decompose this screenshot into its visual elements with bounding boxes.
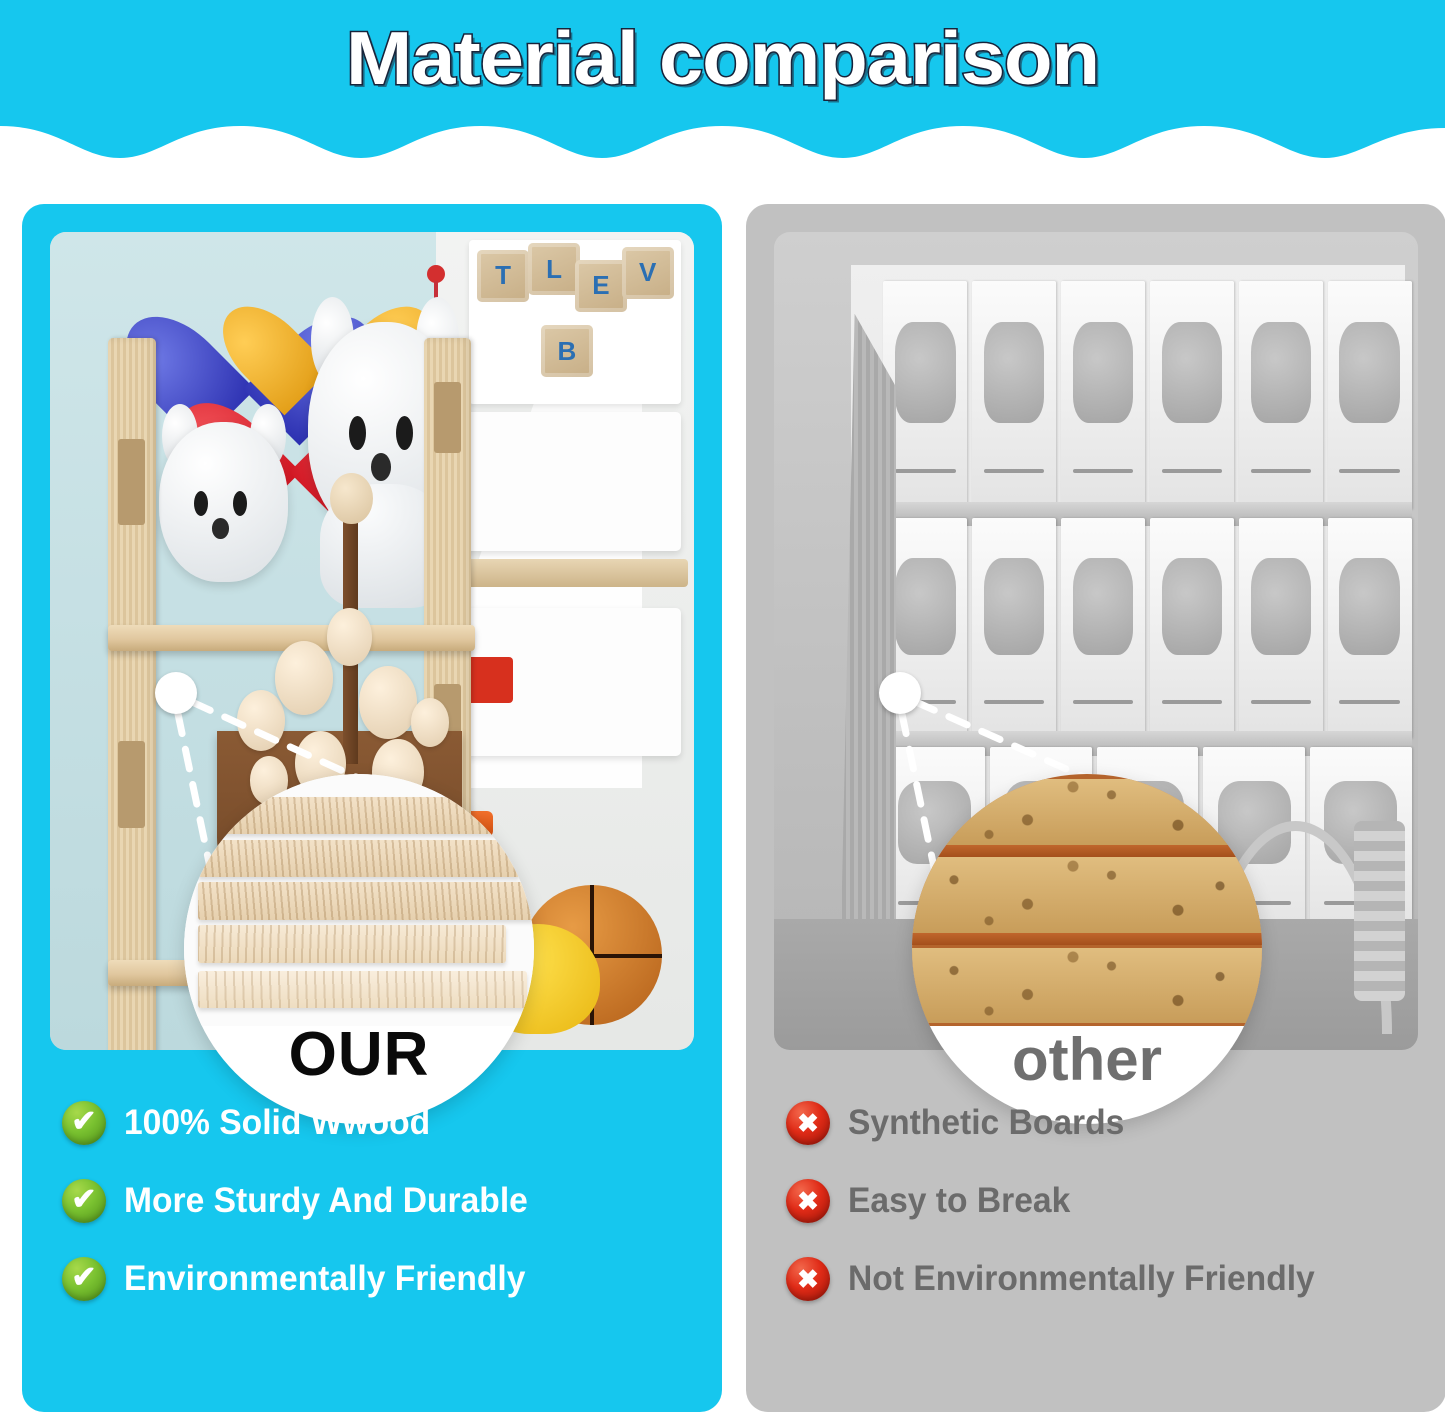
callout-dot-our (155, 672, 197, 714)
magnifier-image-solid-wood (184, 774, 534, 1026)
check-glyph: ✔ (71, 1107, 96, 1137)
feature-item: ✔ 100% Solid Wwood (62, 1084, 698, 1162)
letter-block: B (541, 325, 593, 377)
feature-label: Easy to Break (848, 1181, 1070, 1221)
magnifier-other: other (912, 774, 1262, 1124)
magnifier-label-other: other (912, 1030, 1262, 1090)
page-title: Material comparison (0, 12, 1445, 104)
green-check-icon: ✔ (62, 1179, 106, 1223)
book-row-middle (883, 518, 1411, 739)
book-row-top (883, 281, 1411, 510)
feature-item: ✖ Easy to Break (786, 1162, 1422, 1240)
letter-block: T (477, 250, 529, 302)
feature-label: More Sturdy And Durable (124, 1181, 528, 1221)
green-check-icon: ✔ (62, 1101, 106, 1145)
feature-item: ✖ Synthetic Boards (786, 1084, 1422, 1162)
wooden-disc (275, 641, 333, 715)
panel-other: other ✖ Synthetic Boards ✖ Easy to Break… (746, 204, 1445, 1412)
magnifier-image-particleboard (912, 774, 1262, 1026)
red-cross-icon: ✖ (786, 1179, 830, 1223)
bead-maze-toy (1354, 821, 1406, 1001)
red-cross-icon: ✖ (786, 1257, 830, 1301)
callout-dot-other (879, 672, 921, 714)
magnifier-our: OUR (184, 774, 534, 1124)
panel-our: T L E V B (22, 204, 722, 1412)
feature-item: ✔ Environmentally Friendly (62, 1240, 698, 1318)
letter-block: V (622, 247, 674, 299)
wooden-disc (237, 690, 285, 751)
feature-label: Not Environmentally Friendly (848, 1259, 1315, 1299)
wooden-disc (327, 608, 372, 665)
book-item (1239, 281, 1323, 510)
cross-glyph: ✖ (797, 1188, 819, 1214)
feature-label: 100% Solid Wwood (124, 1103, 430, 1143)
shelf-rail-left (108, 338, 156, 1050)
wood-bar-right (456, 559, 688, 587)
green-check-icon: ✔ (62, 1257, 106, 1301)
book-item (1150, 518, 1234, 739)
feature-label: Synthetic Boards (848, 1103, 1124, 1143)
red-cross-icon: ✖ (786, 1101, 830, 1145)
magnifier-label-our: OUR (184, 1024, 534, 1086)
cross-glyph: ✖ (797, 1110, 819, 1136)
book-item (1061, 281, 1145, 510)
letter-block: L (528, 243, 580, 295)
book-item (1239, 518, 1323, 739)
book-item (972, 281, 1056, 510)
feature-item: ✔ More Sturdy And Durable (62, 1162, 698, 1240)
book-item (1150, 281, 1234, 510)
balloon-stick-ball (427, 265, 445, 283)
feature-list-other: ✖ Synthetic Boards ✖ Easy to Break ✖ Not… (786, 1084, 1422, 1318)
white-shelf-box-upper (462, 412, 681, 551)
comparison-panels: T L E V B (0, 160, 1445, 1419)
cross-glyph: ✖ (797, 1266, 819, 1292)
block-tray: T L E V B (469, 240, 682, 404)
header-banner: Material comparison (0, 0, 1445, 160)
feature-item: ✖ Not Environmentally Friendly (786, 1240, 1422, 1318)
wooden-disc (359, 666, 417, 740)
letter-block: E (575, 260, 627, 312)
check-glyph: ✔ (71, 1263, 96, 1293)
wooden-boat-mast-top (330, 473, 373, 524)
check-glyph: ✔ (71, 1185, 96, 1215)
feature-label: Environmentally Friendly (124, 1259, 525, 1299)
book-item (1328, 281, 1412, 510)
book-item (1061, 518, 1145, 739)
book-item (1328, 518, 1412, 739)
book-item (972, 518, 1056, 739)
teddy-bear-back (159, 404, 288, 633)
feature-list-our: ✔ 100% Solid Wwood ✔ More Sturdy And Dur… (62, 1084, 698, 1318)
